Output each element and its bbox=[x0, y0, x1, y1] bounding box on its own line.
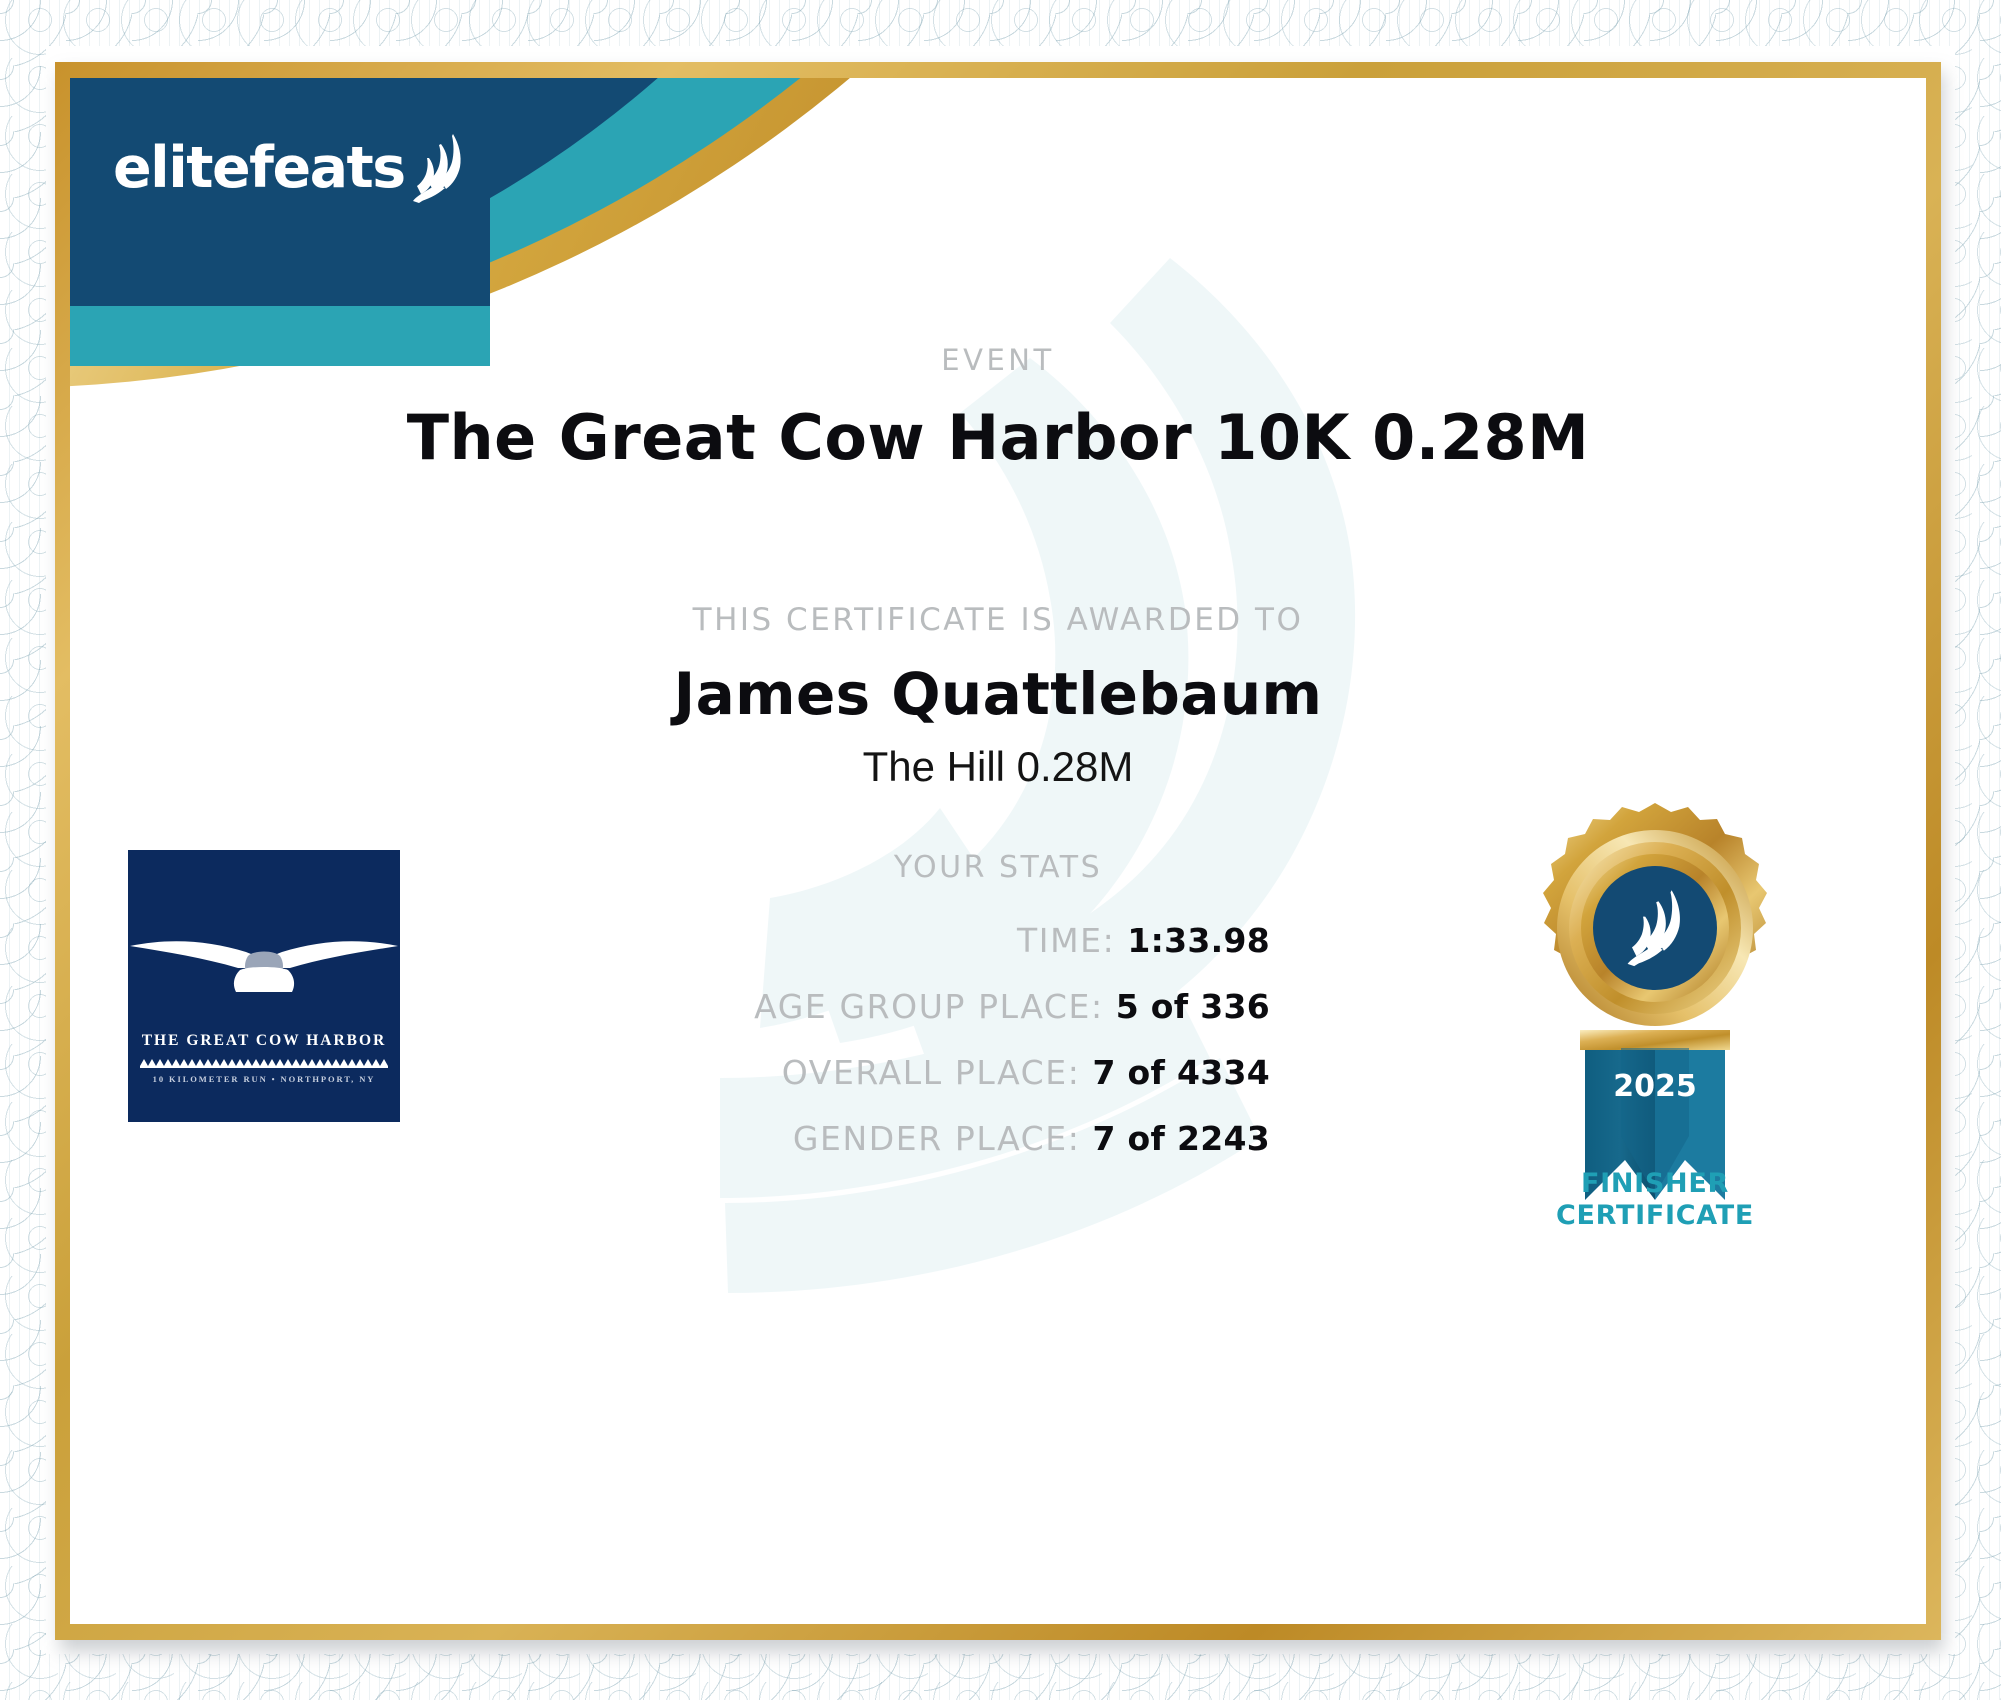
brand-logo: elitefeats bbox=[113, 132, 471, 204]
medal-caption: FINISHER CERTIFICATE bbox=[1480, 1168, 1830, 1232]
certificate-card: elitefeats EVENT The Great Cow Harbor 10… bbox=[70, 78, 1926, 1624]
stat-value: 7 of 4334 bbox=[1092, 1053, 1270, 1092]
stat-key: AGE GROUP PLACE: bbox=[754, 987, 1104, 1026]
recipient-subtitle: The Hill 0.28M bbox=[70, 743, 1926, 791]
wave-divider-icon bbox=[140, 1057, 388, 1068]
medal-caption-line2: CERTIFICATE bbox=[1480, 1200, 1830, 1232]
race-logo-subtitle: 10 KILOMETER RUN • NORTHPORT, NY bbox=[128, 1074, 400, 1084]
winged-foot-icon bbox=[409, 132, 471, 204]
medal-caption-line1: FINISHER bbox=[1480, 1168, 1830, 1200]
stats-list: TIME: 1:33.98 AGE GROUP PLACE: 5 of 336 … bbox=[380, 921, 1270, 1185]
event-label: EVENT bbox=[70, 343, 1926, 377]
seagull-icon bbox=[128, 922, 400, 1002]
awarded-to-label: THIS CERTIFICATE IS AWARDED TO bbox=[70, 602, 1926, 638]
recipient-name: James Quattlebaum bbox=[70, 660, 1926, 728]
stat-key: TIME: bbox=[1017, 921, 1115, 960]
race-logo: THE GREAT COW HARBOR 10 KILOMETER RUN • … bbox=[128, 850, 400, 1122]
event-title: The Great Cow Harbor 10K 0.28M bbox=[70, 401, 1926, 474]
certificate-page: elitefeats EVENT The Great Cow Harbor 10… bbox=[0, 0, 2001, 1700]
stat-row-time: TIME: 1:33.98 bbox=[380, 921, 1270, 960]
award-rosette-icon: 2025 bbox=[1525, 800, 1785, 1220]
stat-value: 5 of 336 bbox=[1116, 987, 1270, 1026]
stat-key: GENDER PLACE: bbox=[793, 1119, 1081, 1158]
stat-value: 1:33.98 bbox=[1127, 921, 1270, 960]
stat-row-age-group-place: AGE GROUP PLACE: 5 of 336 bbox=[380, 987, 1270, 1026]
stat-row-overall-place: OVERALL PLACE: 7 of 4334 bbox=[380, 1053, 1270, 1092]
brand-logo-text: elitefeats bbox=[113, 135, 405, 201]
stat-row-gender-place: GENDER PLACE: 7 of 2243 bbox=[380, 1119, 1270, 1158]
stat-value: 7 of 2243 bbox=[1092, 1119, 1270, 1158]
race-logo-name: THE GREAT COW HARBOR bbox=[128, 1032, 400, 1050]
certificate-content: EVENT The Great Cow Harbor 10K 0.28M THI… bbox=[70, 78, 1926, 1624]
stat-key: OVERALL PLACE: bbox=[782, 1053, 1081, 1092]
medal-year: 2025 bbox=[1613, 1069, 1697, 1104]
